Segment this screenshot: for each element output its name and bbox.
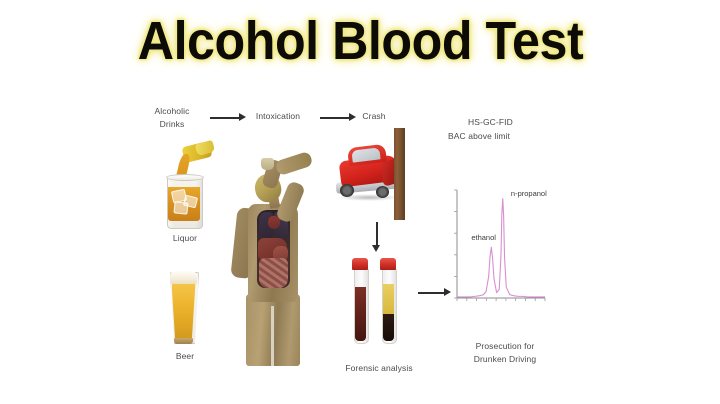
chromatogram-trace (457, 199, 545, 297)
flow-label-intoxication: Intoxication (240, 110, 316, 122)
flow-label-crash: Crash (348, 110, 400, 122)
peak-label-ethanol: ethanol (471, 233, 496, 242)
chart-result-label: BAC above limit (440, 130, 558, 142)
chromatogram-svg (449, 186, 549, 312)
page-root: Alcohol Blood Test Alcoholic Drinks Into… (0, 0, 720, 404)
liquor-glass-icon (156, 140, 214, 232)
flow-label-alcoholic-drinks: Alcoholic Drinks (142, 105, 202, 131)
page-title-text: Alcohol Blood Test (137, 14, 582, 68)
forensic-analysis-label: Forensic analysis (329, 362, 429, 374)
drink-label-liquor: Liquor (150, 232, 220, 244)
chromatogram-chart: ethanol n-propanol (449, 186, 549, 312)
peak-label-n-propanol: n-propanol (511, 189, 547, 198)
beer-glass-icon (162, 262, 206, 348)
outcome-label: Prosecution for Drunken Driving (445, 340, 565, 366)
blood-tubes-icon (348, 248, 410, 348)
car-crash-icon (332, 136, 420, 218)
page-title: Alcohol Blood Test (0, 6, 720, 76)
blood-tube-separated (380, 258, 396, 342)
human-anatomy-icon (226, 146, 321, 368)
blood-tube-whole (352, 258, 368, 342)
chart-method-label: HS-GC-FID (448, 116, 578, 128)
drink-label-beer: Beer (150, 350, 220, 362)
arrow-tubes-to-chart (418, 288, 452, 297)
